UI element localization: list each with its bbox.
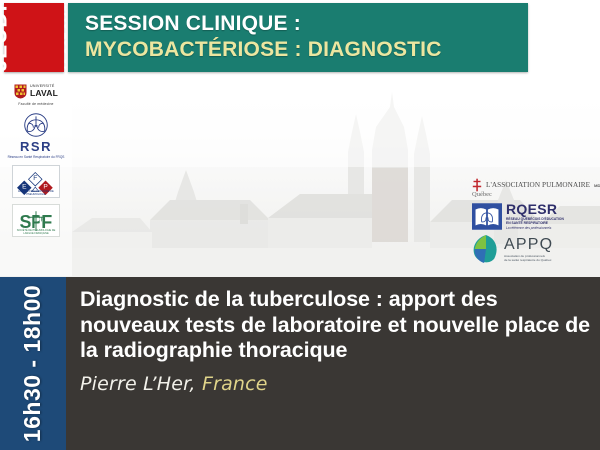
logo-rqesr: RQESR RÉSEAU QUÉBÉCOIS D'ÉDUCATION EN SA… <box>472 202 564 230</box>
association-pulmonaire-region: Québec <box>472 191 584 198</box>
logo-appq: APPQ Association de professionnels de la… <box>472 234 553 264</box>
appq-leaf-icon <box>472 234 500 264</box>
efp-subtitle: ESPACE FRANCOPHONE DE PNEUMOLOGIE <box>13 190 59 196</box>
association-pulmonaire-trademark: MD <box>594 183 600 188</box>
partner-logos-right: L'ASSOCIATION PULMONAIRE MD Québec RQESR… <box>472 178 596 264</box>
session-time-block: 16h30 - 18h00 <box>0 277 66 450</box>
svg-text:F: F <box>33 174 37 181</box>
logo-universite-laval: UNIVERSITÉ LAVAL Faculté de médecine <box>7 84 65 106</box>
rqesr-name: RQESR <box>506 202 564 217</box>
appq-sub2: de la santé respiratoire du Québec <box>504 258 553 262</box>
speaker-name: Pierre L’Her, <box>80 373 196 395</box>
rqesr-tagline: La référence des professionnels <box>506 227 564 230</box>
session-detail-band: 16h30 - 18h00 Diagnostic de la tuberculo… <box>0 277 600 450</box>
rsr-name: RSR <box>20 139 52 154</box>
talk-info: Diagnostic de la tuberculose : apport de… <box>80 287 590 395</box>
session-type-title: SESSION CLINIQUE : <box>85 11 528 37</box>
rqesr-sub2: EN SANTÉ RESPIRATOIRE <box>506 221 564 225</box>
logo-rsr: RSR Réseau en Santé Respiratoire du FRQS <box>7 112 65 159</box>
logo-splf: S P F SOCIÉTÉ DE PNEUMOLOGIE DE LANGUE F… <box>7 204 65 237</box>
laval-faculty-label: Faculté de médecine <box>18 102 53 106</box>
appq-name: APPQ <box>504 237 553 254</box>
rsr-subtitle: Réseau en Santé Respiratoire du FRQS <box>8 155 65 159</box>
session-time-label: 16h30 - 18h00 <box>20 285 47 442</box>
talk-speaker: Pierre L’Her, France <box>80 373 590 395</box>
laval-line2: LAVAL <box>30 89 58 98</box>
association-pulmonaire-name: L'ASSOCIATION PULMONAIRE <box>486 181 590 189</box>
laval-shield-icon <box>14 84 27 99</box>
speaker-country: France <box>202 373 268 395</box>
logo-association-pulmonaire: L'ASSOCIATION PULMONAIRE MD Québec <box>472 178 600 198</box>
splf-subtitle: SOCIÉTÉ DE PNEUMOLOGIE DE LANGUE FRANÇAI… <box>13 229 59 235</box>
session-header-bar: SESSION CLINIQUE : MYCOBACTÉRIOSE : DIAG… <box>68 3 528 72</box>
partner-logos-left: UNIVERSITÉ LAVAL Faculté de médecine RSR… <box>0 76 72 276</box>
date-block: JEUDI 12 OCT 2017 <box>4 3 64 72</box>
talk-title: Diagnostic de la tuberculose : apport de… <box>80 287 590 364</box>
session-topic-title: MYCOBACTÉRIOSE : DIAGNOSTIC <box>85 37 528 63</box>
date-day-label: JEUDI <box>0 4 12 71</box>
conference-session-poster: JEUDI 12 OCT 2017 SESSION CLINIQUE : MYC… <box>0 0 600 450</box>
rsr-lungs-icon <box>18 112 54 138</box>
lorraine-cross-icon <box>472 178 482 192</box>
rqesr-book-lungs-icon <box>472 203 502 230</box>
logo-efp: F E P ESPACE FRANCOPHONE DE PNEUMOLOGIE <box>7 165 65 198</box>
